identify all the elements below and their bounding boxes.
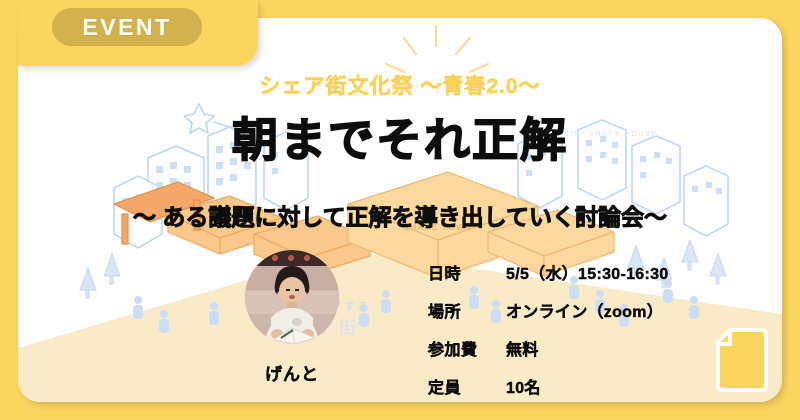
poster-lede: 〜 ある議題に対して正解を導き出していく討論会〜 <box>18 198 782 232</box>
detail-label-venue: 場所 <box>428 298 506 322</box>
poster-kicker: シェア街文化祭 〜青春2.0〜 <box>18 70 782 100</box>
detail-value-datetime: 5/5（水）15:30-16:30 <box>506 260 669 284</box>
detail-row: 日時 5/5（水）15:30-16:30 <box>428 260 669 282</box>
event-poster: SHARE TOWN まちをシェアする シェア街 COMMUNITY SHARE… <box>0 0 800 420</box>
detail-row: 参加費 無料 <box>428 336 669 358</box>
document-page-icon <box>716 328 768 392</box>
event-details: 日時 5/5（水）15:30-16:30 場所 オンライン（zoom） 参加費 … <box>428 260 669 396</box>
detail-value-capacity: 10名 <box>506 374 541 398</box>
detail-value-venue: オンライン（zoom） <box>506 298 663 322</box>
detail-value-fee: 無料 <box>506 336 539 360</box>
poster-card: SHARE TOWN まちをシェアする シェア街 COMMUNITY SHARE… <box>18 18 782 402</box>
speaker-name: げんと <box>240 360 344 385</box>
speaker-block: げんと <box>240 250 344 385</box>
detail-label-datetime: 日時 <box>428 260 506 284</box>
detail-label-fee: 参加費 <box>428 336 506 360</box>
detail-label-capacity: 定員 <box>428 374 506 398</box>
detail-row: 定員 10名 <box>428 374 669 396</box>
page-title: 朝までそれ正解 <box>18 115 782 166</box>
event-badge-label: EVENT <box>82 16 171 39</box>
detail-row: 場所 オンライン（zoom） <box>428 298 669 320</box>
avatar <box>245 250 339 344</box>
event-badge: EVENT <box>52 8 202 46</box>
